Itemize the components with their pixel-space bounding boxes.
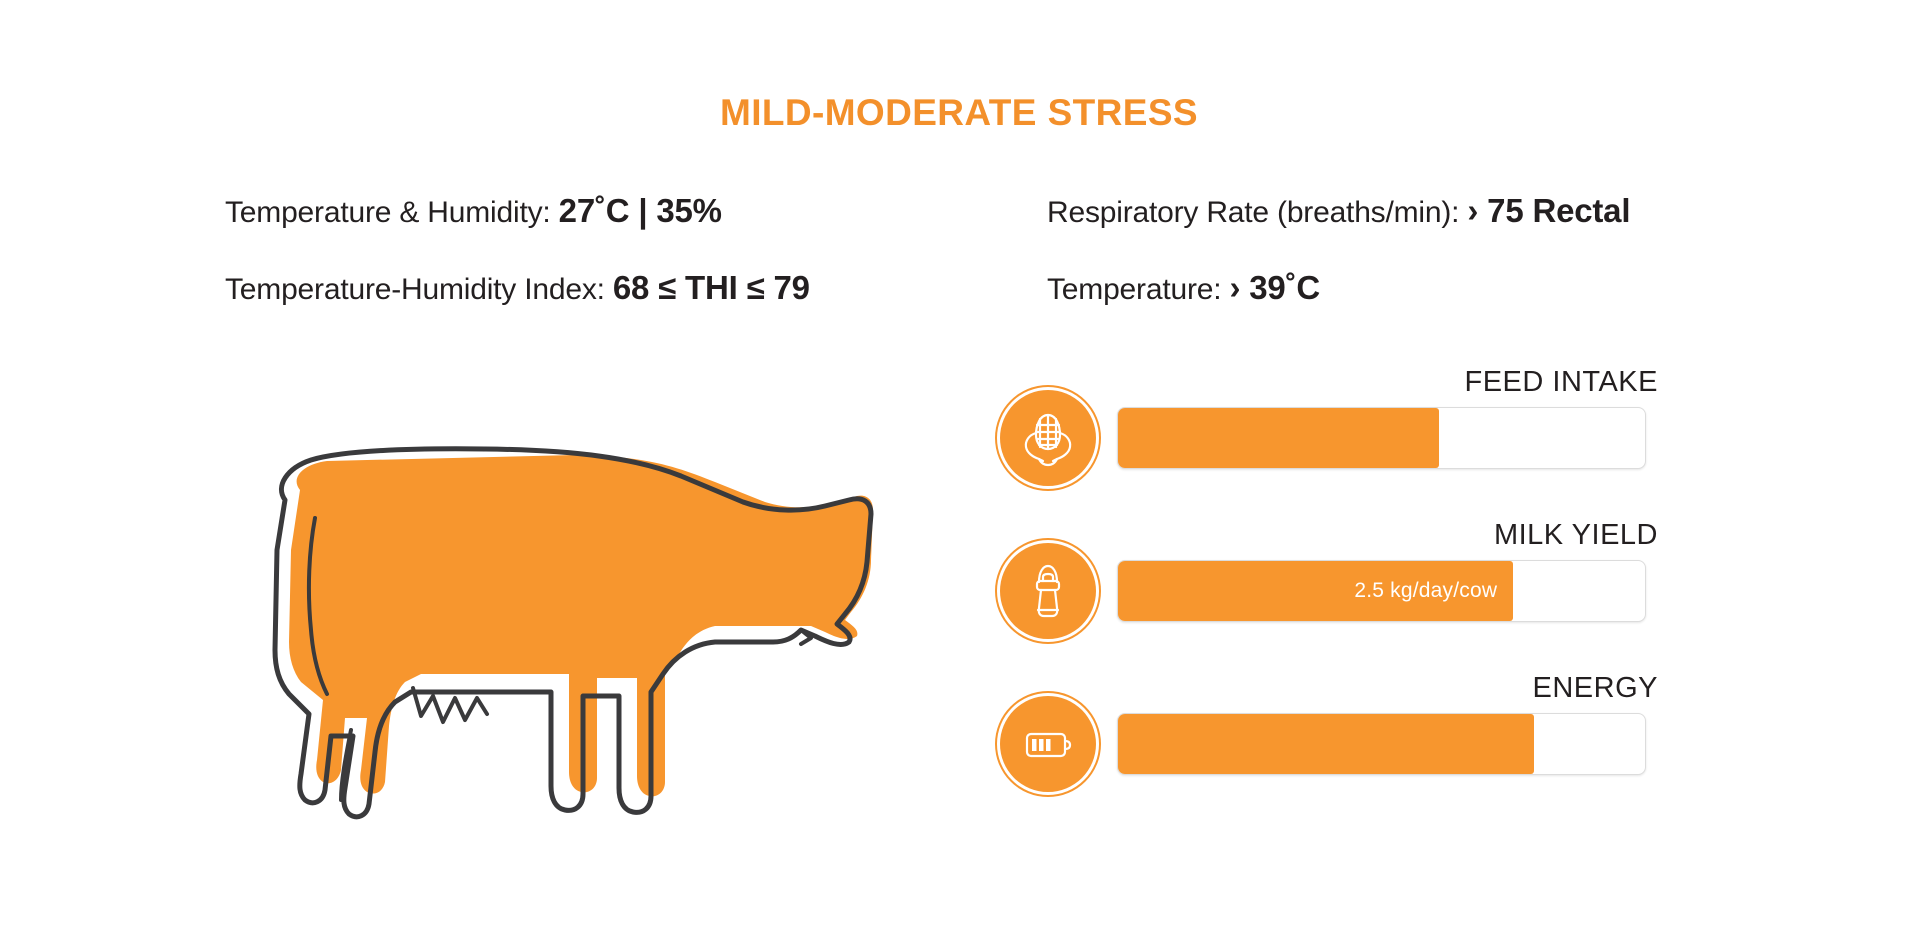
stat-value: 27˚C | 35% xyxy=(559,192,722,229)
milk-can-icon xyxy=(1000,543,1096,639)
metric-milk-yield: MILK YIELD 2.5 kg/day/cow xyxy=(1000,523,1660,643)
stat-label: Temperature-Humidity Index: xyxy=(225,273,605,306)
metric-energy: ENERGY xyxy=(1000,676,1660,796)
metrics-panel: FEED INTAKE xyxy=(1000,370,1660,840)
stat-label: Temperature & Humidity: xyxy=(225,196,551,229)
feed-intake-bar-fill xyxy=(1118,408,1439,468)
stats-panel: Temperature & Humidity: 27˚C | 35% Tempe… xyxy=(0,192,1918,332)
feed-intake-bar-track[interactable] xyxy=(1117,407,1646,469)
stat-label: Temperature: xyxy=(1047,273,1221,306)
stat-respiratory-rate: Respiratory Rate (breaths/min): › 75 Rec… xyxy=(1047,192,1630,230)
cow-illustration xyxy=(245,430,895,850)
metric-label: ENERGY xyxy=(1533,672,1658,705)
corn-icon-svg xyxy=(1017,407,1079,469)
stat-label: Respiratory Rate (breaths/min): xyxy=(1047,196,1459,229)
milk-yield-bar-track[interactable]: 2.5 kg/day/cow xyxy=(1117,560,1646,622)
stat-value: › 75 Rectal xyxy=(1467,192,1630,229)
stat-temperature-humidity: Temperature & Humidity: 27˚C | 35% xyxy=(225,192,722,230)
energy-bar-fill xyxy=(1118,714,1534,774)
stat-value: › 39˚C xyxy=(1230,269,1321,306)
energy-bar-track[interactable] xyxy=(1117,713,1646,775)
stat-value: 68 ≤ THI ≤ 79 xyxy=(613,269,810,306)
stat-rectal-temperature: Temperature: › 39˚C xyxy=(1047,269,1320,307)
milk-yield-bar-fill: 2.5 kg/day/cow xyxy=(1118,561,1513,621)
milk-can-icon-svg xyxy=(1017,560,1079,622)
metric-label: MILK YIELD xyxy=(1494,519,1658,552)
corn-icon xyxy=(1000,390,1096,486)
milk-yield-bar-value: 2.5 kg/day/cow xyxy=(1354,579,1513,603)
stat-thi: Temperature-Humidity Index: 68 ≤ THI ≤ 7… xyxy=(225,269,810,307)
metric-feed-intake: FEED INTAKE xyxy=(1000,370,1660,490)
battery-icon xyxy=(1000,696,1096,792)
metric-label: FEED INTAKE xyxy=(1465,366,1659,399)
battery-icon-svg xyxy=(1017,713,1079,775)
cow-illustration-svg xyxy=(245,430,895,850)
page-title: MILD-MODERATE STRESS xyxy=(0,92,1918,134)
